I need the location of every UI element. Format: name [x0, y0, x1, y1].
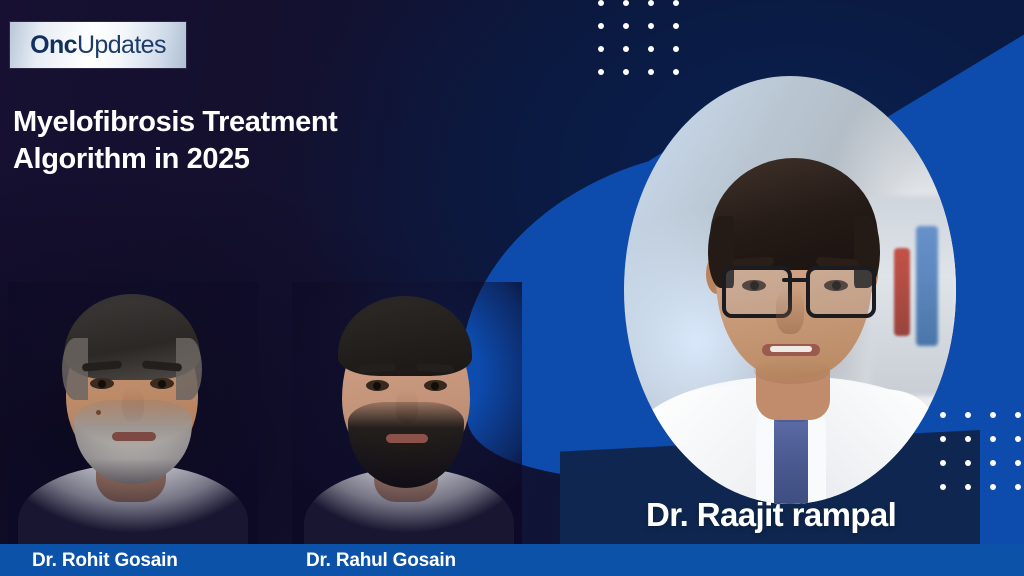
host-left-portrait [8, 282, 258, 546]
guest-necktie [774, 410, 808, 504]
host-left-pupil-left [98, 380, 106, 388]
guest-chin-shadow [754, 358, 830, 384]
video-thumbnail-slide: OncUpdates Myelofibrosis Treatment Algor… [0, 0, 1024, 576]
guest-eyeglasses-right-lens [806, 266, 876, 318]
logo-wordmark-bold: Onc [30, 31, 77, 59]
slide-title-line-2: Algorithm in 2025 [13, 141, 483, 178]
guest-teeth [770, 346, 812, 352]
host-right-pupil-right [431, 382, 439, 390]
logo-wordmark-light: Updates [77, 31, 166, 59]
slide-title: Myelofibrosis Treatment Algorithm in 202… [13, 104, 483, 177]
dot-grid-bottom-right-icon [940, 412, 1024, 508]
host-right-mouth [386, 434, 428, 443]
host-left-pupil-right [158, 380, 166, 388]
host-right-portrait [292, 282, 522, 546]
host-left-mouth [112, 432, 156, 441]
oncupdates-logo[interactable]: OncUpdates [10, 22, 186, 68]
host-right-pupil-left [373, 382, 381, 390]
guest-eyeglasses-bridge [782, 278, 810, 282]
guest-name-label: Dr. Raajit rampal [646, 496, 896, 534]
host-right-hair [338, 296, 472, 376]
portrait-background-shelf [870, 196, 956, 396]
portrait-background-object-blue [916, 226, 938, 346]
slide-title-line-1: Myelofibrosis Treatment [13, 104, 483, 141]
portrait-background-object-red [894, 248, 910, 336]
host-left-mole [96, 410, 101, 415]
guest-nose [776, 288, 804, 334]
logo-wordmark: OncUpdates [30, 33, 166, 58]
host-right-name-label: Dr. Rahul Gosain [306, 550, 456, 572]
guest-portrait-avatar [624, 76, 956, 504]
host-left-name-label: Dr. Rohit Gosain [32, 550, 178, 572]
